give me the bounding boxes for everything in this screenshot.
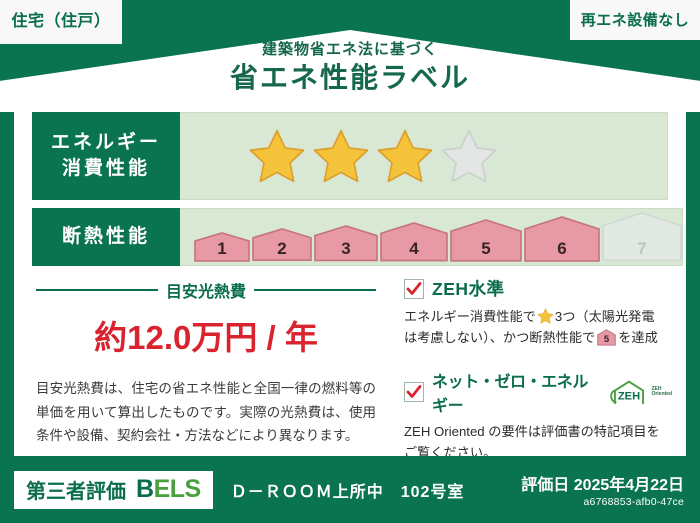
utility-cost-heading-text: 目安光熱費 bbox=[166, 278, 246, 302]
insulation-chip-value: 2 bbox=[277, 240, 286, 260]
zeh-net-zero-head: ネット・ゼロ・エネルギー ZEH ZEH Oriented bbox=[404, 368, 672, 416]
zeh-logo-sub-line-2: Oriented bbox=[651, 391, 672, 397]
utility-cost-note: 目安光熱費は、住宅の省エネ性能と全国一律の燃料等の単価を用いて算出したものです。… bbox=[36, 377, 376, 448]
body-panel: エネルギー 消費性能 断熱性能 1234567 目安光熱費 約12.0万円 / bbox=[14, 100, 686, 456]
insulation-chip: 6 bbox=[524, 216, 600, 262]
insulation-performance-row: 断熱性能 1234567 bbox=[32, 208, 668, 266]
evaluation-info: 評価日 2025年4月22日 a6768853-afb0-47ce bbox=[521, 471, 684, 508]
star-empty-icon bbox=[440, 128, 498, 184]
insulation-chip-value: 6 bbox=[557, 240, 566, 260]
zeh-standard-description: エネルギー消費性能で3つ（太陽光発電 は考慮しない）、かつ断熱性能で5を達成 bbox=[404, 306, 672, 353]
insulation-chip-value: 7 bbox=[637, 240, 646, 260]
insulation-chip-value: 5 bbox=[481, 240, 490, 260]
insulation-chip: 7 bbox=[602, 212, 682, 261]
bels-jp-text: 第三者評価 bbox=[26, 475, 126, 504]
zeh-desc-part-1: エネルギー消費性能で bbox=[404, 309, 536, 324]
energy-performance-row: エネルギー 消費性能 bbox=[32, 112, 668, 200]
insulation-chip-value: 1 bbox=[217, 240, 226, 260]
bels-logo-b: B bbox=[136, 475, 154, 503]
star-filled-icon bbox=[376, 128, 434, 184]
badge-renewable-status: 再エネ設備なし bbox=[570, 0, 700, 40]
energy-label-line-1: エネルギー bbox=[51, 130, 161, 156]
checkbox-checked-icon bbox=[404, 382, 424, 402]
label-title: 建築物省エネ法に基づく 省エネ性能ラベル bbox=[0, 42, 700, 94]
svg-text:5: 5 bbox=[604, 335, 610, 346]
star-rating bbox=[180, 128, 498, 184]
evaluation-date: 評価日 2025年4月22日 bbox=[521, 471, 684, 495]
insulation-performance-value: 1234567 bbox=[180, 208, 683, 266]
title-main: 省エネ性能ラベル bbox=[0, 62, 700, 94]
inline-level-chip: 5 bbox=[597, 334, 616, 349]
zeh-desc-star-count: 3つ（太陽光発電 bbox=[555, 309, 655, 324]
zeh-net-zero-title: ネット・ゼロ・エネルギー bbox=[432, 368, 601, 416]
zeh-block: ZEH水準 エネルギー消費性能で3つ（太陽光発電 は考慮しない）、かつ断熱性能で… bbox=[404, 276, 672, 464]
zeh-desc-part-2: は考慮しない）、かつ断熱性能で bbox=[404, 330, 595, 345]
insulation-chip-value: 3 bbox=[341, 240, 350, 260]
insulation-chip: 2 bbox=[252, 228, 312, 261]
property-unit-name: Ｄ－ＲＯＯＭ上所中 102号室 bbox=[231, 478, 465, 502]
zeh-item-net-zero: ネット・ゼロ・エネルギー ZEH ZEH Oriented ZEH Ori bbox=[404, 368, 672, 464]
bels-certification-plate: 第三者評価 BELS bbox=[14, 471, 213, 509]
insulation-chip: 1 bbox=[194, 232, 250, 262]
energy-performance-value bbox=[180, 112, 668, 200]
footer-bar: 第三者評価 BELS Ｄ－ＲＯＯＭ上所中 102号室 評価日 2025年4月22… bbox=[0, 456, 700, 523]
inline-star-icon bbox=[537, 308, 554, 324]
star-filled-icon bbox=[248, 128, 306, 184]
bels-energy-label: 住宅（住戸） 再エネ設備なし 建築物省エネ法に基づく 省エネ性能ラベル エネルギ… bbox=[0, 0, 700, 523]
energy-label-line-2: 消費性能 bbox=[62, 156, 150, 182]
utility-cost-heading: 目安光熱費 bbox=[36, 278, 376, 302]
insulation-performance-label: 断熱性能 bbox=[32, 208, 180, 266]
rule-left-icon bbox=[36, 289, 158, 291]
insulation-label-text: 断熱性能 bbox=[62, 224, 150, 250]
title-subtitle: 建築物省エネ法に基づく bbox=[0, 42, 700, 59]
insulation-chip: 5 bbox=[450, 219, 522, 262]
insulation-level-scale: 1234567 bbox=[180, 212, 682, 261]
insulation-chip-value: 4 bbox=[409, 240, 418, 260]
star-filled-icon bbox=[312, 128, 370, 184]
bels-logo: BELS bbox=[136, 475, 201, 504]
zeh-oriented-logo-icon: ZEH ZEH Oriented bbox=[609, 379, 672, 405]
checkbox-checked-icon bbox=[404, 279, 424, 299]
insulation-chip: 4 bbox=[380, 222, 448, 262]
utility-cost-block: 目安光熱費 約12.0万円 / 年 目安光熱費は、住宅の省エネ性能と全国一律の燃… bbox=[36, 278, 376, 448]
zeh-desc-part-3: を達成 bbox=[618, 330, 658, 345]
zeh-standard-head: ZEH水準 bbox=[404, 276, 672, 301]
evaluation-id: a6768853-afb0-47ce bbox=[521, 496, 684, 508]
badge-building-type: 住宅（住戸） bbox=[0, 0, 122, 44]
utility-cost-amount: 約12.0万円 / 年 bbox=[36, 311, 376, 359]
svg-text:ZEH: ZEH bbox=[618, 390, 640, 402]
rule-right-icon bbox=[254, 289, 376, 291]
zeh-standard-title: ZEH水準 bbox=[432, 276, 505, 301]
bels-logo-els: ELS bbox=[154, 475, 201, 503]
zeh-item-standard: ZEH水準 エネルギー消費性能で3つ（太陽光発電 は考慮しない）、かつ断熱性能で… bbox=[404, 276, 672, 353]
energy-performance-label: エネルギー 消費性能 bbox=[32, 112, 180, 200]
insulation-chip: 3 bbox=[314, 225, 378, 261]
